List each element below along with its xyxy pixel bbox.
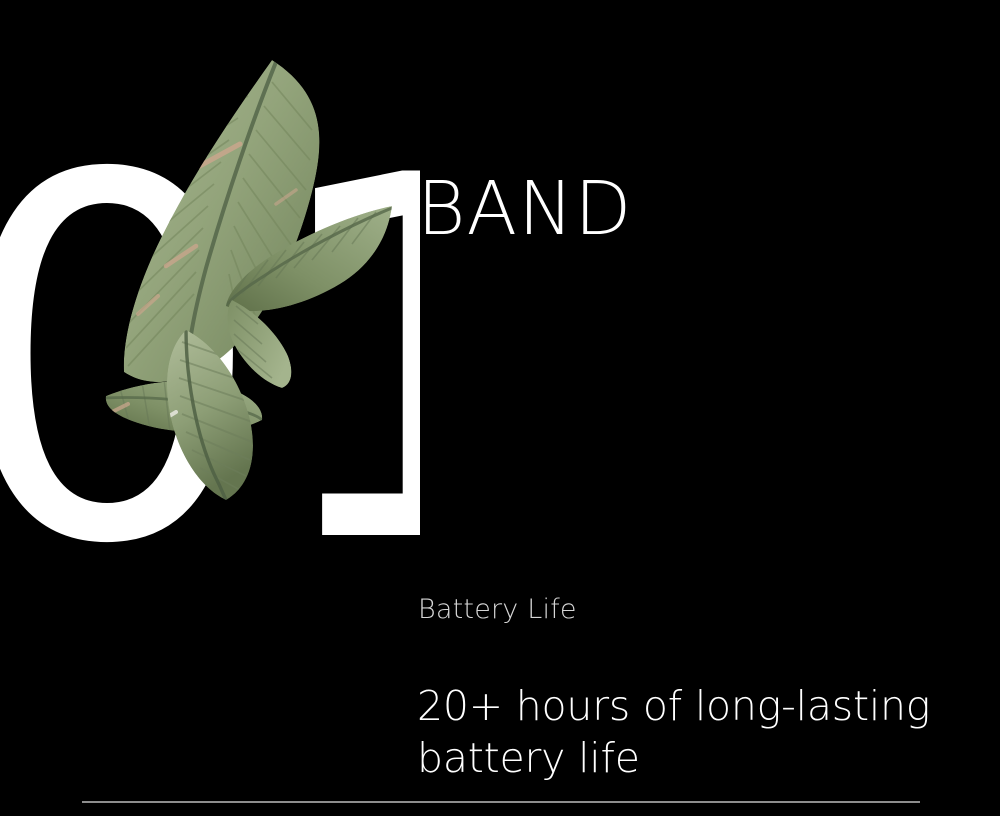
bottom-divider xyxy=(82,801,920,803)
hero-graphic: 01 xyxy=(0,0,420,560)
slide-canvas: 01 xyxy=(0,0,1000,816)
slide-number: 01 xyxy=(0,112,420,560)
brand-wordmark: BAND xyxy=(417,172,632,246)
feature-eyebrow-label: Battery Life xyxy=(418,595,577,625)
feature-headline: 20+ hours of long-lasting battery life xyxy=(417,680,957,785)
